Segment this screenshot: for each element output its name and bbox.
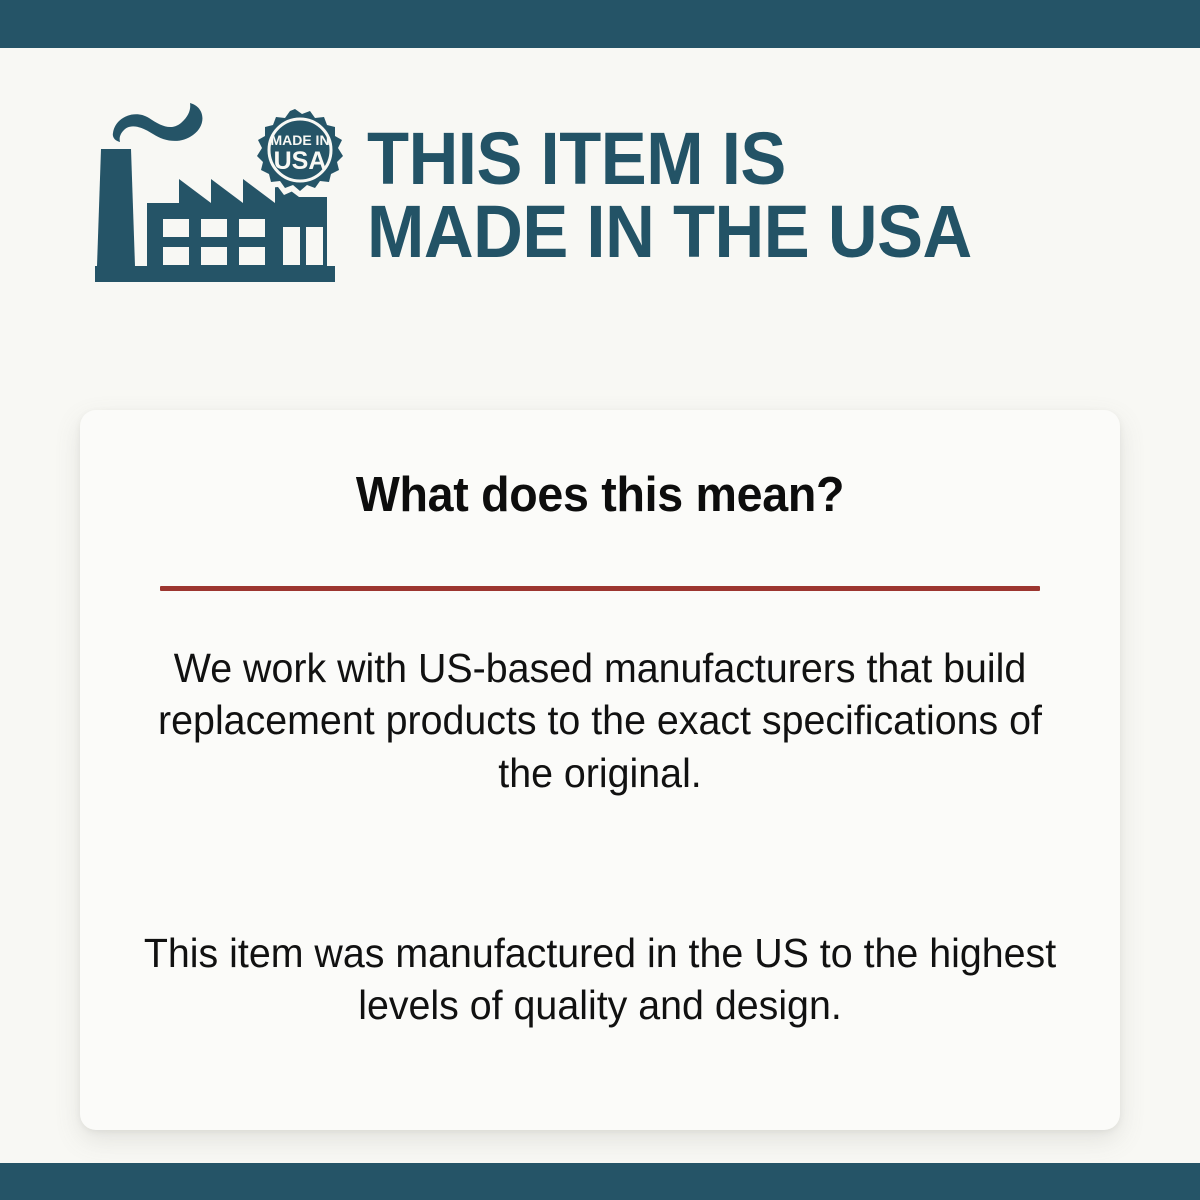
card-heading: What does this mean? [106, 467, 1094, 523]
page-title-line-2: MADE IN THE USA [367, 196, 1081, 269]
info-card: What does this mean? We work with US-bas… [80, 410, 1120, 1130]
card-divider [160, 586, 1040, 591]
page-title: THIS ITEM IS MADE IN THE USA [367, 123, 1081, 268]
factory-icon: MADE IN USA [95, 101, 345, 291]
page-title-line-1: THIS ITEM IS [367, 123, 1081, 196]
badge-made-in-label: MADE IN [270, 132, 329, 148]
banner-header: MADE IN USA THIS ITEM IS MADE IN THE USA [95, 98, 1135, 293]
bottom-accent-bar [0, 1163, 1200, 1200]
card-paragraph-1: We work with US-based manufacturers that… [139, 642, 1061, 799]
factory-logo: MADE IN USA [95, 101, 345, 291]
top-accent-bar [0, 0, 1200, 48]
page-canvas: MADE IN USA THIS ITEM IS MADE IN THE USA… [0, 48, 1200, 1163]
card-paragraph-2: This item was manufactured in the US to … [139, 927, 1061, 1032]
badge-usa-label: USA [274, 147, 327, 175]
